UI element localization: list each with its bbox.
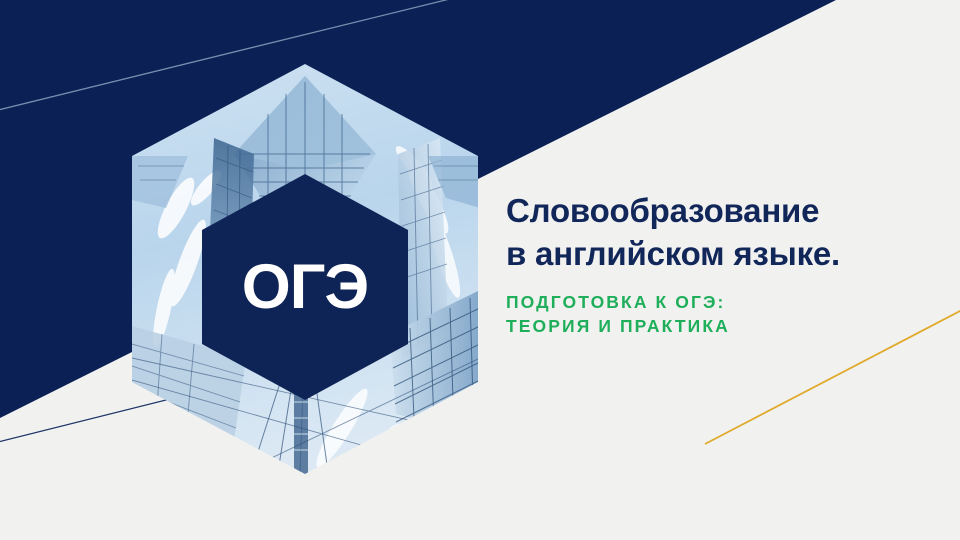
title-slide: ОГЭ Словообразование в английском языке.…: [0, 0, 960, 540]
page-title-line-2: в английском языке.: [506, 233, 926, 276]
title-text-block: Словообразование в английском языке. ПОД…: [506, 190, 926, 339]
subtitle-line-1: ПОДГОТОВКА К ОГЭ:: [506, 290, 926, 315]
subtitle-line-2: ТЕОРИЯ И ПРАКТИКА: [506, 314, 926, 339]
oge-badge-label: ОГЭ: [242, 252, 369, 322]
page-title-line-1: Словообразование: [506, 190, 926, 233]
oge-hexagon-emblem: ОГЭ: [128, 58, 484, 480]
